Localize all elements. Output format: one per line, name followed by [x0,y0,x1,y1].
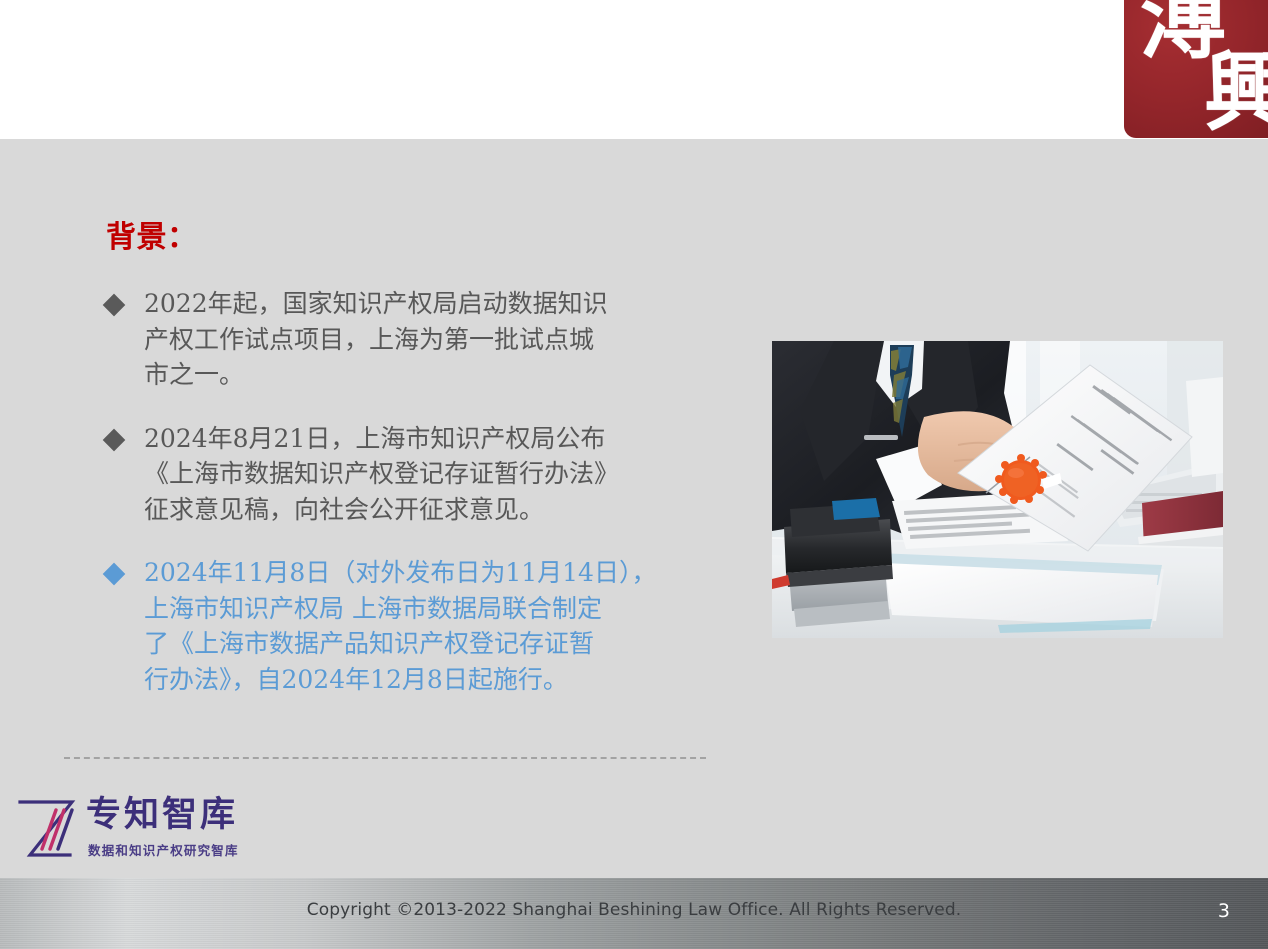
seal-character-2: 興 [1204,50,1268,136]
brand-title: 专知智库 [86,798,238,833]
list-item: 2024年8月21日，上海市知识产权局公布 《上海市数据知识产权登记存证暂行办法… [100,421,700,528]
brand-logo: 专知智库 数据和知识产权研究智库 [12,795,252,867]
top-white-band [0,0,1268,139]
diamond-bullet-icon [103,428,126,451]
brand-subtitle: 数据和知识产权研究智库 [88,845,239,858]
beshining-seal-logo: 溥 興 [1124,0,1268,138]
businessman-signing-document-photo [772,341,1223,638]
diamond-bullet-icon [103,294,126,317]
list-item-text: 2024年11月8日（对外发布日为11月14日）， 上海市知识产权局 上海市数据… [144,555,700,697]
zhizhi-z-mark-icon [12,797,80,863]
list-item: 2024年11月8日（对外发布日为11月14日）， 上海市知识产权局 上海市数据… [100,555,700,697]
copyright-text: Copyright ©2013-2022 Shanghai Beshining … [0,900,1268,920]
list-item: 2022年起，国家知识产权局启动数据知识 产权工作试点项目，上海为第一批试点城 … [100,286,700,393]
dashed-divider [64,757,706,759]
list-item-text: 2024年8月21日，上海市知识产权局公布 《上海市数据知识产权登记存证暂行办法… [144,421,700,528]
diamond-bullet-icon [103,563,126,586]
section-heading: 背景： [106,212,198,256]
slide-canvas: 溥 興 背景： 2022年起，国家知识产权局启动数据知识 产权工作试点项目，上海… [0,0,1268,949]
footer-bar: Copyright ©2013-2022 Shanghai Beshining … [0,878,1268,949]
page-number: 3 [1218,900,1230,922]
bullet-list: 2022年起，国家知识产权局启动数据知识 产权工作试点项目，上海为第一批试点城 … [100,286,700,697]
list-item-text: 2022年起，国家知识产权局启动数据知识 产权工作试点项目，上海为第一批试点城 … [144,286,700,393]
